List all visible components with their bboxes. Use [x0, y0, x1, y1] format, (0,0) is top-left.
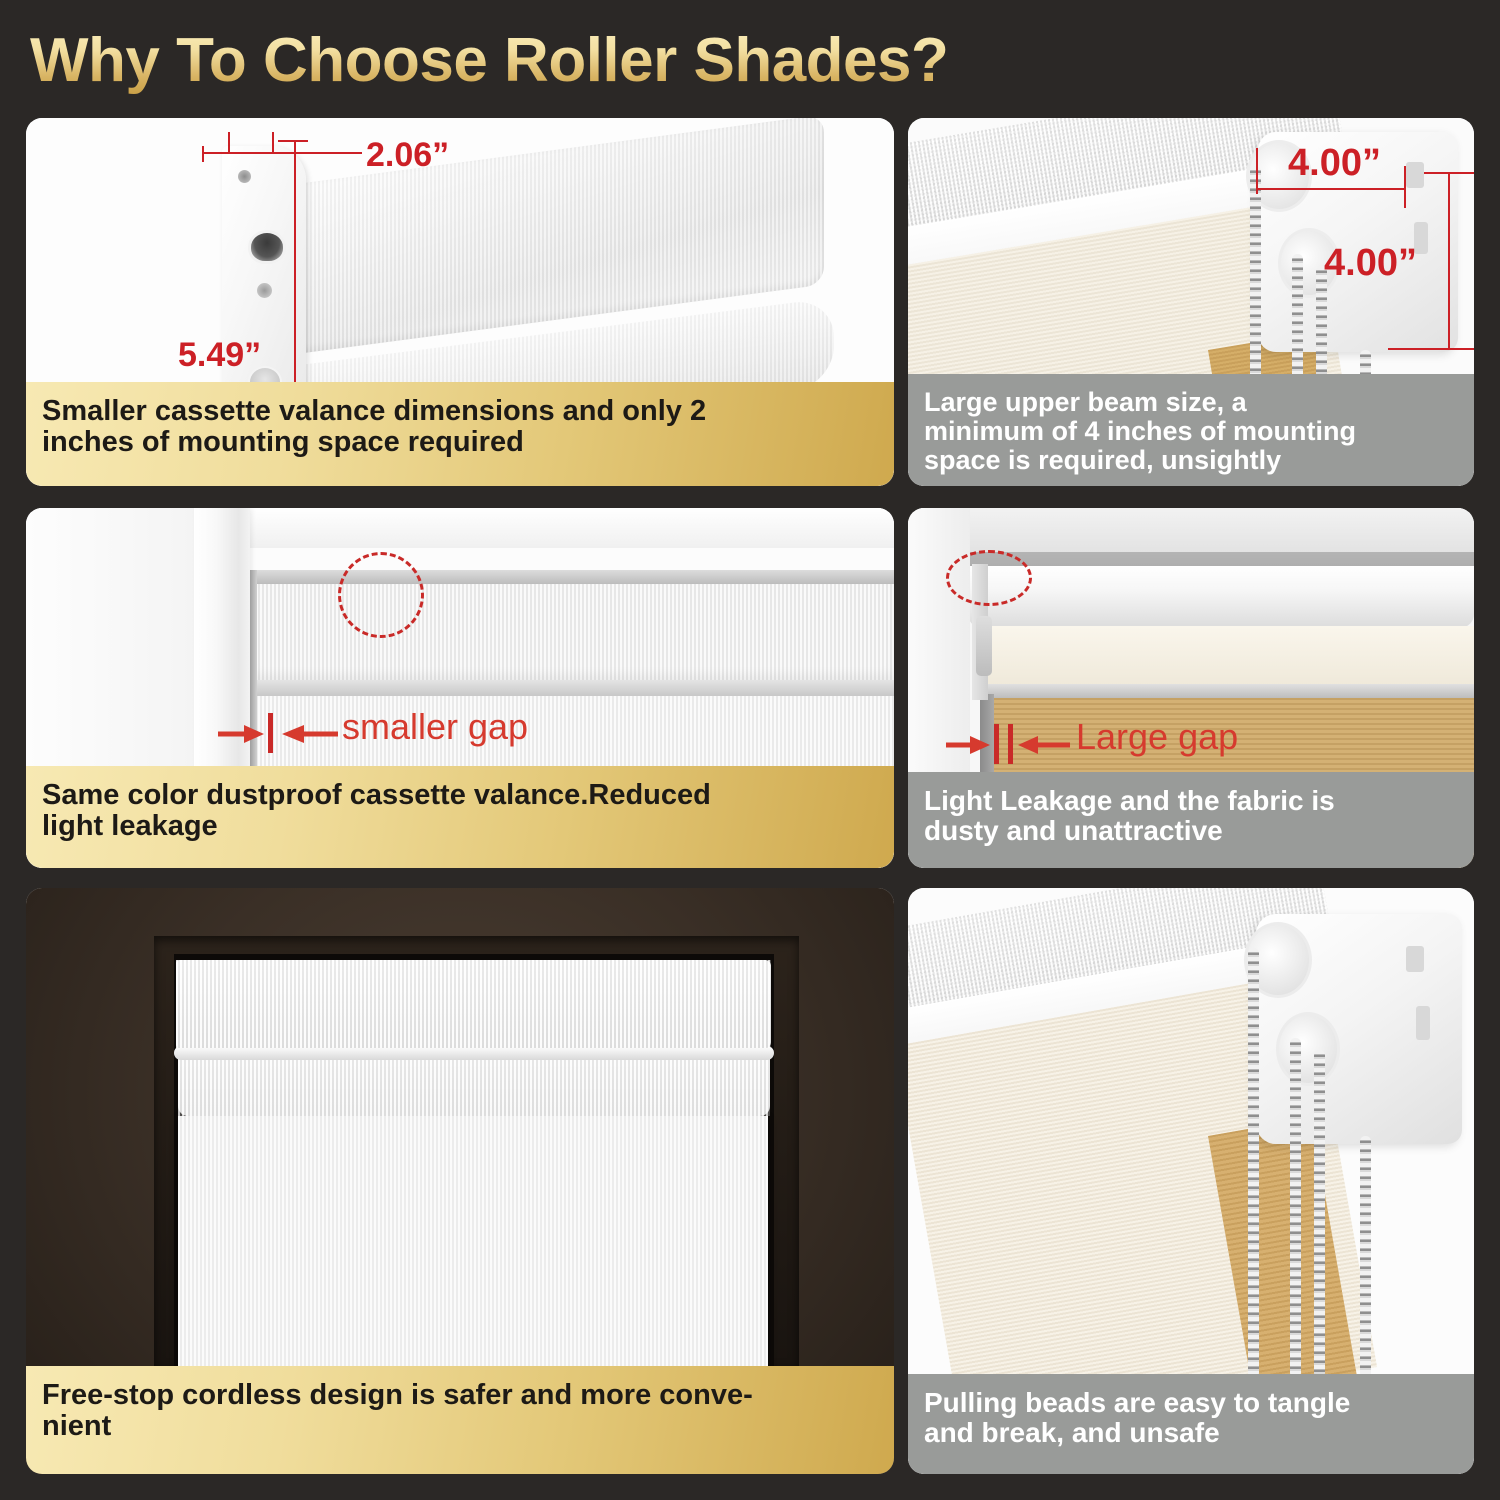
dimension-label-width: 2.06” [366, 136, 449, 175]
caption-line: dusty and unattractive [924, 816, 1458, 846]
caption-line: nient [42, 1411, 878, 1442]
gap-callout-label: smaller gap [342, 706, 528, 748]
bead-chain [1360, 1136, 1371, 1378]
caption-line: minimum of 4 inches of mounting [924, 417, 1458, 446]
caption-line: space is required, unsightly [924, 446, 1458, 475]
bead-chain [1314, 1050, 1325, 1378]
caption-line: and break, and unsafe [924, 1418, 1458, 1448]
highlight-circle [946, 550, 1032, 606]
caption-top-left: Smaller cassette valance dimensions and … [26, 382, 894, 486]
panel-top-right: 4.00” 4.00” Large upper beam size, a min… [908, 118, 1474, 486]
gap-arrow-right [282, 721, 338, 747]
gap-arrow-left [946, 732, 992, 758]
caption-line: inches of mounting space required [42, 427, 878, 458]
caption-line: Free-stop cordless design is safer and m… [42, 1380, 878, 1411]
gap-callout-label: Large gap [1076, 716, 1238, 758]
caption-middle-left: Same color dustproof cassette valance.Re… [26, 766, 894, 868]
caption-line: Large upper beam size, a [924, 388, 1458, 417]
panel-middle-left: smaller gap Same color dustproof cassett… [26, 508, 894, 868]
caption-bottom-left: Free-stop cordless design is safer and m… [26, 1366, 894, 1474]
bead-chain [1248, 948, 1259, 1378]
dimension-label-height: 5.49” [178, 336, 261, 375]
caption-top-right: Large upper beam size, a minimum of 4 in… [908, 374, 1474, 486]
gap-arrow-right [1018, 732, 1070, 758]
caption-line: Smaller cassette valance dimensions and … [42, 396, 878, 427]
bead-chain [1290, 1038, 1301, 1378]
caption-line: Pulling beads are easy to tangle [924, 1388, 1458, 1418]
page-title: Why To Choose Roller Shades? [30, 22, 1130, 100]
panel-bottom-right: Pulling beads are easy to tangle and bre… [908, 888, 1474, 1474]
caption-bottom-right: Pulling beads are easy to tangle and bre… [908, 1374, 1474, 1474]
cord-hole-icon [248, 230, 286, 264]
dimension-label-width: 4.00” [1288, 142, 1381, 185]
page-header: Why To Choose Roller Shades? [30, 22, 1130, 100]
highlight-circle [338, 552, 424, 638]
caption-line: light leakage [42, 811, 878, 842]
caption-line: Light Leakage and the fabric is [924, 786, 1458, 816]
panel-top-left: 2.06” 5.49” Smaller cassette valance dim… [26, 118, 894, 486]
dimension-label-height: 4.00” [1324, 242, 1417, 285]
gap-arrow-left [218, 721, 266, 747]
caption-line: Same color dustproof cassette valance.Re… [42, 780, 878, 811]
panel-middle-right: Large gap Light Leakage and the fabric i… [908, 508, 1474, 868]
caption-middle-right: Light Leakage and the fabric is dusty an… [908, 772, 1474, 868]
panel-bottom-left: Free-stop cordless design is safer and m… [26, 888, 894, 1474]
